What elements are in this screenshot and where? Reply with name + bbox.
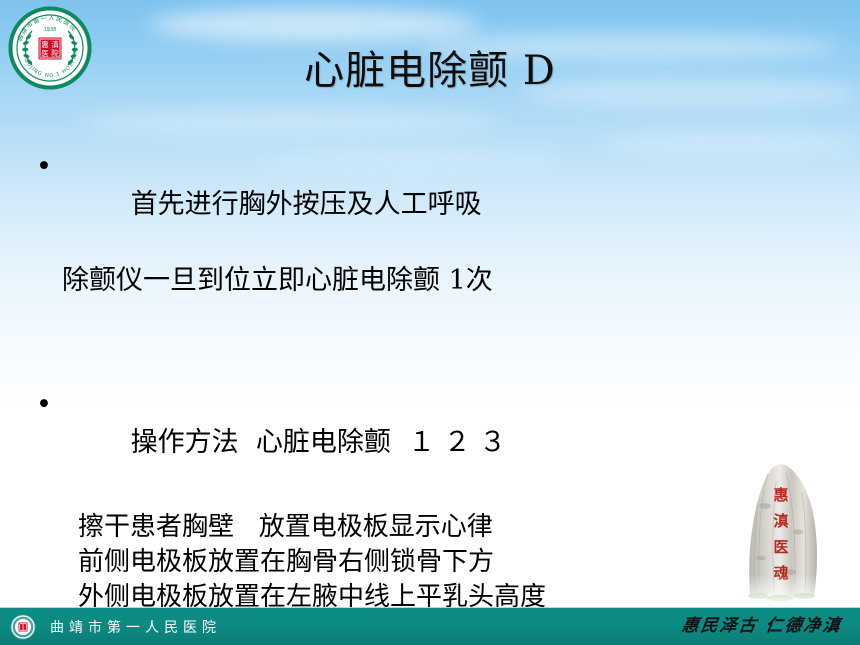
footer-logo-icon: [10, 614, 36, 640]
cloud-wisp: [150, 8, 480, 42]
slide-title: 心脏电除颤 D: [0, 46, 860, 96]
cloud-wisp: [80, 108, 500, 136]
bullet-text-block: 操作方法 心脏电除颤 １ ２ ３: [62, 386, 826, 500]
slide-canvas: 曲靖市第一人民医院 QUJING NO.1 HOSPITAL 1938 惠 滇 …: [0, 0, 860, 645]
svg-text:惠: 惠: [773, 486, 788, 504]
svg-text:滇: 滇: [773, 512, 788, 530]
footer-hospital-name: 曲靖市第一人民医院: [50, 617, 221, 637]
procedure-line-1: 擦干患者胸壁 放置电极板显示心律: [78, 510, 826, 545]
procedure-line-2: 前侧电极板放置在胸骨右侧锁骨下方: [78, 545, 826, 580]
bullet-item: • 操作方法 心脏电除颤 １ ２ ３: [36, 386, 826, 500]
bullet-text-block: 首先进行胸外按压及人工呼吸 除颤仪一旦到位立即心脏电除颤 1次: [62, 148, 826, 376]
slide-body: • 首先进行胸外按压及人工呼吸 除颤仪一旦到位立即心脏电除颤 1次 • 操作方法…: [36, 148, 826, 645]
bullet-1-line-2: 除颤仪一旦到位立即心脏电除颤 1次: [62, 262, 826, 300]
footer-slogan: 惠民泽古 仁德净滇: [680, 611, 843, 636]
svg-text:医: 医: [773, 538, 788, 556]
footer-bar: 曲靖市第一人民医院 惠民泽古 仁德净滇: [0, 607, 860, 645]
bullet-1-line-1: 首先进行胸外按压及人工呼吸: [131, 189, 482, 220]
bullet-item: • 首先进行胸外按压及人工呼吸 除颤仪一旦到位立即心脏电除颤 1次: [36, 148, 826, 376]
stone-monument-image: 惠 滇 医 魂: [728, 462, 848, 612]
bullet-2-line-1: 操作方法 心脏电除颤 １ ２ ３: [131, 427, 507, 458]
bullet-marker-icon: •: [36, 386, 62, 424]
svg-text:1938: 1938: [44, 27, 57, 33]
bullet-marker-icon: •: [36, 148, 62, 186]
